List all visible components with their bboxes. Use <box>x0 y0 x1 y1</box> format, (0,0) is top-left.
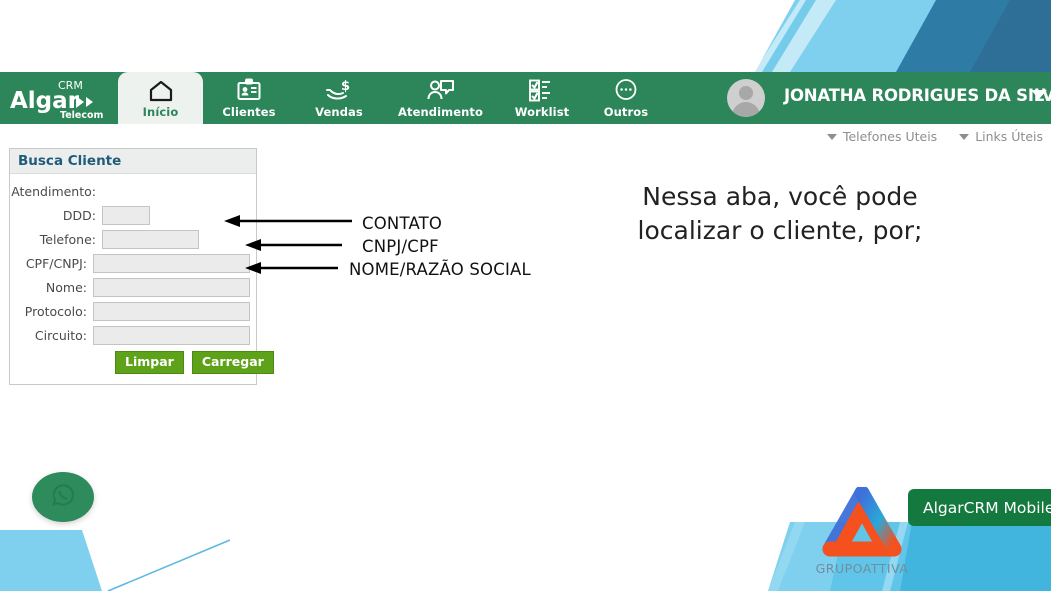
attiva-brand-text: GRUPOATTIVA <box>808 561 916 576</box>
nav-item-outros[interactable]: Outros <box>586 72 666 124</box>
support-chat-icon <box>426 78 456 102</box>
nav-label-vendas: Vendas <box>315 105 363 119</box>
annotation-contato: CONTATO <box>362 214 442 233</box>
panel-body: Atendimento: DDD: Telefone: CPF/CNPJ: No… <box>10 174 256 384</box>
field-row-nome: Nome: <box>10 276 250 298</box>
field-label-atendimento: Atendimento: <box>10 184 102 199</box>
nav-item-atendimento[interactable]: Atendimento <box>383 72 498 124</box>
field-label-circuito: Circuito: <box>10 328 93 343</box>
util-link-links-uteis[interactable]: Links Úteis <box>959 129 1043 144</box>
caret-down-icon[interactable] <box>1031 90 1047 99</box>
avatar[interactable] <box>727 79 765 117</box>
nav-label-inicio: Início <box>143 105 179 119</box>
field-label-protocolo: Protocolo: <box>10 304 93 319</box>
util-link-label: Links Úteis <box>975 129 1043 144</box>
attiva-triangle-icon <box>822 487 902 563</box>
top-decoration <box>0 0 1051 72</box>
nav-item-inicio[interactable]: Início <box>118 72 203 124</box>
field-label-cpf-cnpj: CPF/CNPJ: <box>10 256 93 271</box>
home-icon <box>148 78 174 102</box>
ellipsis-circle-icon <box>613 78 639 102</box>
annotation-cnpj-cpf: CNPJ/CPF <box>362 237 439 256</box>
nav-label-outros: Outros <box>604 105 648 119</box>
caret-down-icon <box>827 134 837 140</box>
nav-label-worklist: Worklist <box>515 105 570 119</box>
panel-title: Busca Cliente <box>10 149 256 174</box>
checklist-icon <box>528 78 556 102</box>
hand-money-icon: $ <box>324 78 354 102</box>
instruction-line-2: localizar o cliente, por; <box>600 214 960 248</box>
util-link-label: Telefones Uteis <box>843 129 937 144</box>
field-row-circuito: Circuito: <box>10 324 250 346</box>
user-name[interactable]: JONATHA RODRIGUES DA SILVA <box>784 86 1051 105</box>
nav-item-vendas[interactable]: $ Vendas <box>295 72 383 124</box>
field-row-atendimento: Atendimento: <box>10 180 250 202</box>
caret-down-icon <box>959 134 969 140</box>
limpar-button[interactable]: Limpar <box>115 351 184 374</box>
cpf-cnpj-input[interactable] <box>93 254 250 273</box>
carregar-button[interactable]: Carregar <box>192 351 274 374</box>
algarcrm-mobile-badge[interactable]: AlgarCRM Mobile <box>908 489 1051 526</box>
protocolo-input[interactable] <box>93 302 250 321</box>
annotation-nome-razao-social: NOME/RAZÃO SOCIAL <box>349 260 531 279</box>
util-link-telefones-uteis[interactable]: Telefones Uteis <box>827 129 937 144</box>
grupo-attiva-logo: GRUPOATTIVA <box>808 487 916 587</box>
avatar-head <box>739 86 753 100</box>
svg-text:$: $ <box>341 79 350 94</box>
instruction-text: Nessa aba, você pode localizar o cliente… <box>600 180 960 248</box>
busca-cliente-panel: Busca Cliente Atendimento: DDD: Telefone… <box>9 148 257 385</box>
nav-item-worklist[interactable]: Worklist <box>498 72 586 124</box>
panel-button-row: Limpar Carregar <box>10 351 250 374</box>
field-label-telefone: Telefone: <box>10 232 102 247</box>
algar-crm-logo[interactable]: CRM Algar Telecom <box>8 76 112 120</box>
field-label-ddd: DDD: <box>10 208 102 223</box>
ddd-input[interactable] <box>102 206 150 225</box>
svg-text:Telecom: Telecom <box>60 110 104 120</box>
util-links-row: Telefones Uteis Links Úteis <box>827 129 1043 144</box>
app-window: CRM Algar Telecom Início <box>0 0 1051 591</box>
field-row-protocolo: Protocolo: <box>10 300 250 322</box>
nav-label-clientes: Clientes <box>222 105 275 119</box>
field-label-nome: Nome: <box>10 280 93 295</box>
circuito-input[interactable] <box>93 326 250 345</box>
nav-label-atendimento: Atendimento <box>398 105 483 119</box>
field-row-ddd: DDD: <box>10 204 250 226</box>
field-row-cpf-cnpj: CPF/CNPJ: <box>10 252 250 274</box>
telefone-input[interactable] <box>102 230 199 249</box>
avatar-body <box>732 102 760 117</box>
id-card-icon <box>236 78 262 102</box>
nav-item-clientes[interactable]: Clientes <box>203 72 295 124</box>
algarcrm-mobile-label: AlgarCRM Mobile <box>923 499 1051 517</box>
instruction-line-1: Nessa aba, você pode <box>600 180 960 214</box>
field-row-telefone: Telefone: <box>10 228 250 250</box>
nome-input[interactable] <box>93 278 250 297</box>
